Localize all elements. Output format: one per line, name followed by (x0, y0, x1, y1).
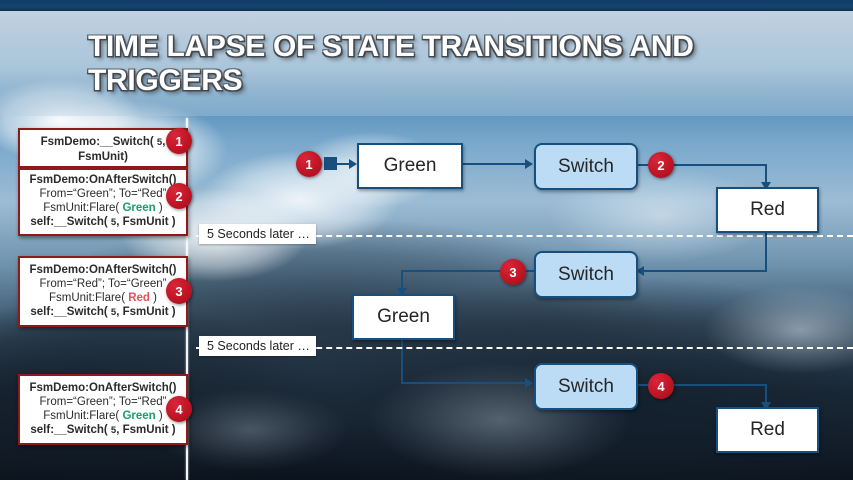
code-line: FsmUnit:Flare( Green ) (22, 409, 184, 423)
badge-code-2: 2 (166, 183, 192, 209)
code-line: FsmUnit:Flare( Red ) (22, 291, 184, 305)
code-line: From=“Red”; To=“Green” (22, 277, 184, 291)
node-label: Switch (558, 264, 614, 286)
node-red-2[interactable]: Red (716, 407, 819, 453)
time-separator-label-1: 5 Seconds later … (199, 224, 316, 244)
slide-canvas: Time Lapse of State Transitions and Trig… (0, 0, 853, 480)
code-card-3[interactable]: FsmDemo:OnAfterSwitch() From=“Red”; To=“… (18, 256, 188, 327)
badge-code-3: 3 (166, 278, 192, 304)
badge-diagram-3: 3 (500, 259, 526, 285)
connector-green1-to-switch1 (459, 163, 527, 165)
keyword-red: Red (128, 292, 150, 304)
badge-code-4: 4 (166, 396, 192, 422)
top-accent-band (0, 0, 853, 11)
code-line: self:__Switch( 5, FsmUnit ) (22, 305, 184, 320)
code-card-4[interactable]: FsmDemo:OnAfterSwitch() From=“Green”; To… (18, 374, 188, 445)
code-line: FsmUnit) (22, 150, 184, 164)
node-red-1[interactable]: Red (716, 187, 819, 233)
node-label: Switch (558, 376, 614, 398)
code-line: self:__Switch( 5, FsmUnit ) (22, 423, 184, 438)
connector-red1-to-switch2 (636, 270, 767, 272)
node-switch-2[interactable]: Switch (534, 251, 638, 298)
page-title: Time Lapse of State Transitions and Trig… (88, 30, 788, 98)
code-line: FsmDemo:OnAfterSwitch() (22, 381, 184, 395)
code-line: FsmDemo:OnAfterSwitch() (22, 173, 184, 187)
connector-green2-down (401, 336, 403, 383)
badge-diagram-1: 1 (296, 151, 322, 177)
node-label: Red (750, 419, 785, 441)
time-separator-label-2: 5 Seconds later … (199, 336, 316, 356)
connector-green2-to-switch3 (401, 382, 527, 384)
node-label: Green (377, 306, 430, 328)
keyword-green: Green (122, 410, 155, 422)
badge-diagram-4: 4 (648, 373, 674, 399)
node-label: Green (384, 155, 437, 177)
arrowhead-into-switch-1 (525, 159, 533, 169)
node-label: Red (750, 199, 785, 221)
node-green-2[interactable]: Green (352, 294, 455, 340)
code-line: FsmDemo:__Switch( 5, (22, 135, 184, 150)
arrowhead-into-switch-3 (525, 378, 533, 388)
code-card-2[interactable]: FsmDemo:OnAfterSwitch() From=“Green”; To… (18, 168, 188, 236)
start-node-square (324, 157, 337, 170)
node-label: Switch (558, 156, 614, 178)
code-line: self:__Switch( 5, FsmUnit ) (22, 215, 184, 230)
code-line: FsmUnit:Flare( Green ) (22, 201, 184, 215)
node-switch-1[interactable]: Switch (534, 143, 638, 190)
code-line: From=“Green”; To=“Red” (22, 395, 184, 409)
node-green-1[interactable]: Green (357, 143, 463, 189)
code-card-1[interactable]: FsmDemo:__Switch( 5, FsmUnit) (18, 128, 188, 168)
badge-diagram-2: 2 (648, 152, 674, 178)
code-line: From=“Green”; To=“Red” (22, 187, 184, 201)
badge-code-1: 1 (166, 128, 192, 154)
keyword-green: Green (122, 202, 155, 214)
code-line: FsmDemo:OnAfterSwitch() (22, 263, 184, 277)
arrowhead-into-green-1 (349, 159, 357, 169)
node-switch-3[interactable]: Switch (534, 363, 638, 410)
